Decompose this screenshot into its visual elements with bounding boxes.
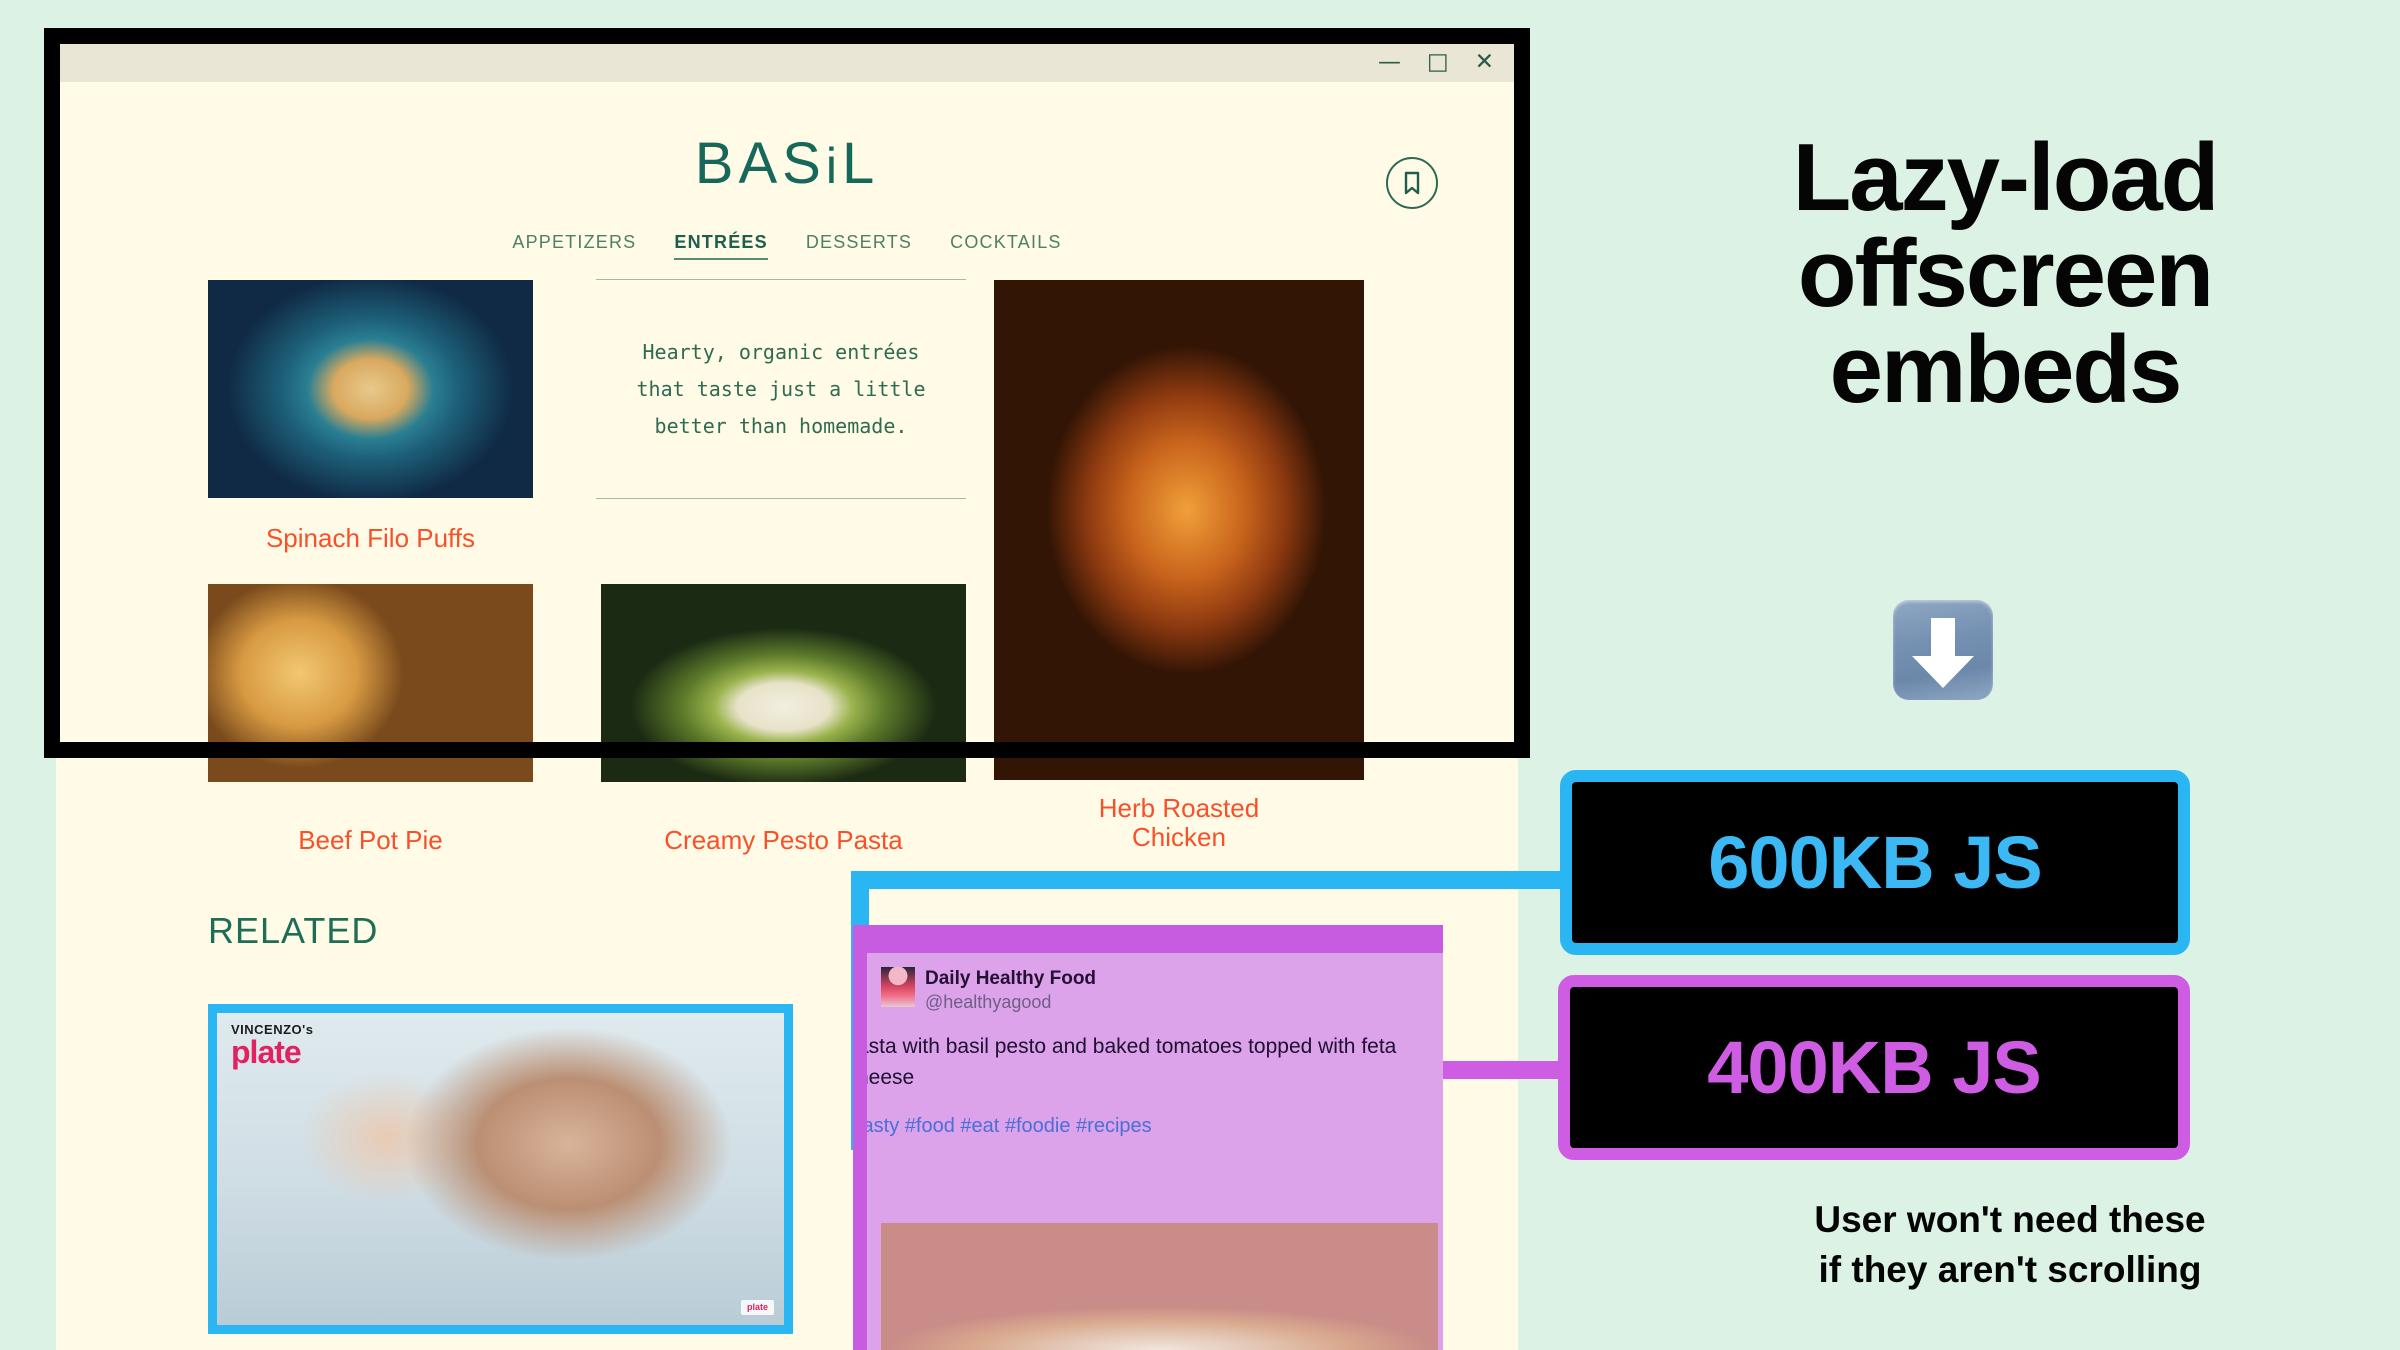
- badge-600kb-js: 600KB JS: [1560, 770, 2190, 955]
- tagline-line-2: that taste just a little: [637, 371, 926, 408]
- nav-item-desserts[interactable]: DESSERTS: [806, 232, 912, 260]
- headline: Lazy-load offscreen embeds: [1660, 130, 2350, 418]
- footnote: User won't need these if they aren't scr…: [1660, 1195, 2360, 1295]
- tweet-author[interactable]: Daily Healthy Food @healthyagood: [867, 953, 1443, 1014]
- tweet-handle: @healthyagood: [925, 991, 1096, 1014]
- beef-pot-pie-photo: [208, 584, 533, 782]
- herb-roasted-chicken-photo: [994, 280, 1364, 780]
- nav-item-cocktails[interactable]: COCKTAILS: [950, 232, 1062, 260]
- headline-line-3: embeds: [1660, 322, 2350, 418]
- nav-item-entrees[interactable]: ENTRÉES: [674, 232, 767, 260]
- tweet-hashtags[interactable]: tasty #food #eat #foodie #recipes: [867, 1093, 1443, 1138]
- vincenzos-plate-logo: VINCENZO's plate: [231, 1023, 314, 1068]
- window-controls: — □ ✕: [1378, 42, 1494, 82]
- feta-pasta-bowl-photo: [881, 1223, 1438, 1350]
- close-icon[interactable]: ✕: [1475, 51, 1494, 74]
- bookmark-icon[interactable]: [1386, 157, 1438, 209]
- tagline-text: Hearty, organic entrées that taste just …: [637, 334, 926, 445]
- video-watermark: plate: [741, 1300, 774, 1315]
- dish-image-beef-pot-pie[interactable]: [208, 584, 533, 782]
- minimize-icon[interactable]: —: [1378, 51, 1401, 74]
- slide-canvas: — □ ✕ BASiL APPETIZERS ENTRÉES DESSERTS …: [0, 0, 2400, 1350]
- window-titlebar: — □ ✕: [56, 42, 1518, 82]
- tweet-body-line-1: asta with basil pesto and baked tomatoes…: [867, 1032, 1443, 1062]
- headline-line-2: offscreen: [1660, 226, 2350, 322]
- dish-label-line-1: Herb Roasted: [974, 794, 1384, 823]
- tagline-line-3: better than homemade.: [637, 408, 926, 445]
- tweet-card: Daily Healthy Food @healthyagood asta wi…: [867, 953, 1443, 1350]
- dish-label-line-2: Chicken: [974, 823, 1384, 852]
- dish-label-spinach-filo-puffs: Spinach Filo Puffs: [208, 524, 533, 553]
- channel-logo-bottom: plate: [231, 1036, 314, 1068]
- footnote-line-1: User won't need these: [1660, 1195, 2360, 1245]
- down-arrow-icon: [1893, 600, 1993, 700]
- tagline-block: Hearty, organic entrées that taste just …: [596, 279, 966, 499]
- tweet-embed[interactable]: Daily Healthy Food @healthyagood asta wi…: [853, 925, 1443, 1350]
- tweet-body: asta with basil pesto and baked tomatoes…: [867, 1014, 1443, 1093]
- tweet-body-line-2: heese: [867, 1063, 1443, 1093]
- spinach-filo-puffs-photo: [208, 280, 533, 498]
- tweet-display-name: Daily Healthy Food: [925, 967, 1096, 991]
- maximize-icon[interactable]: □: [1427, 51, 1449, 74]
- site-logo[interactable]: BASiL: [56, 130, 1518, 197]
- badge-400kb-js: 400KB JS: [1558, 975, 2190, 1160]
- dish-image-creamy-pesto-pasta[interactable]: [601, 584, 966, 782]
- dish-label-creamy-pesto-pasta: Creamy Pesto Pasta: [601, 826, 966, 855]
- video-embed[interactable]: VINCENZO's plate plate: [208, 1004, 793, 1334]
- site-nav: APPETIZERS ENTRÉES DESSERTS COCKTAILS: [56, 232, 1518, 260]
- dish-label-herb-roasted-chicken: Herb Roasted Chicken: [974, 794, 1384, 853]
- dish-label-beef-pot-pie: Beef Pot Pie: [208, 826, 533, 855]
- dish-image-herb-roasted-chicken[interactable]: [994, 280, 1364, 780]
- tweet-media[interactable]: [881, 1223, 1438, 1350]
- footnote-line-2: if they aren't scrolling: [1660, 1245, 2360, 1295]
- creamy-pesto-pasta-photo: [601, 584, 966, 782]
- tagline-line-1: Hearty, organic entrées: [637, 334, 926, 371]
- dish-image-spinach-filo-puffs[interactable]: [208, 280, 533, 498]
- headline-line-1: Lazy-load: [1660, 130, 2350, 226]
- avatar: [881, 967, 915, 1007]
- related-heading: RELATED: [208, 910, 378, 952]
- nav-item-appetizers[interactable]: APPETIZERS: [512, 232, 636, 260]
